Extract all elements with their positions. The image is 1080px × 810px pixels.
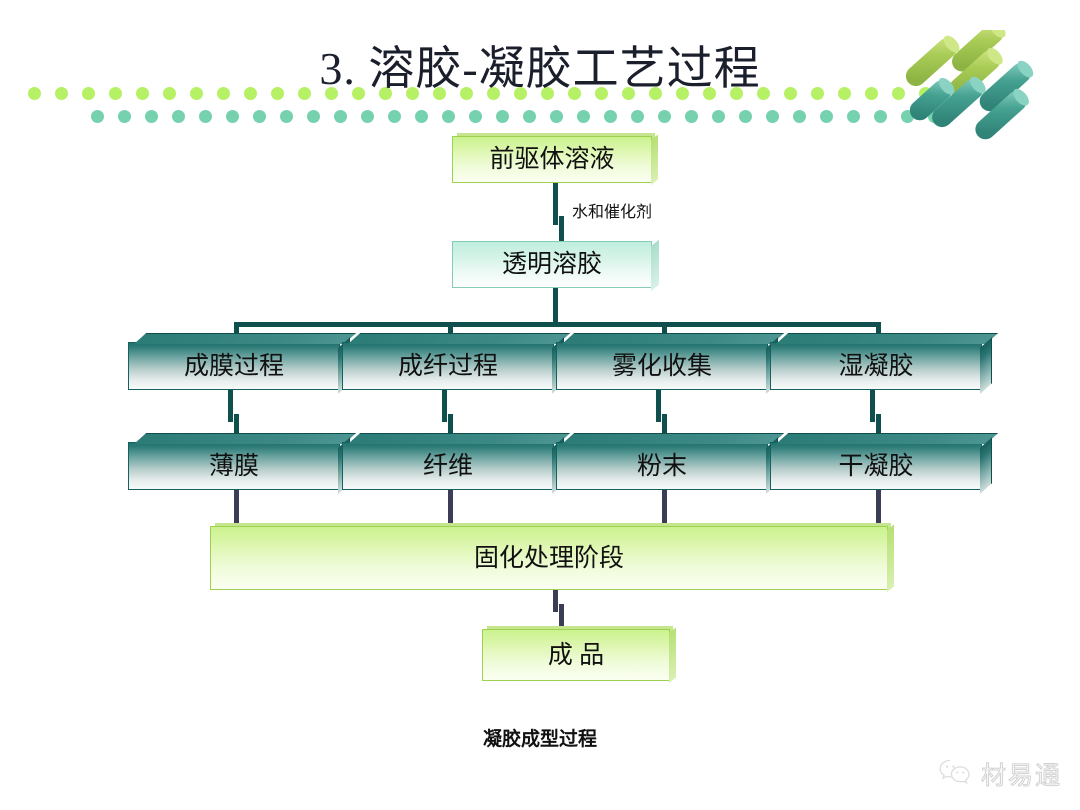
connector-powder-to-curing: [662, 490, 667, 526]
connector-fiber-to-curing: [448, 490, 453, 526]
flow-node-label: 干凝胶: [838, 454, 913, 479]
page-title: 3. 溶胶-凝胶工艺过程: [0, 32, 1080, 98]
decorative-dot: [685, 110, 698, 123]
connector-wetgel-to-drygel-a: [870, 390, 875, 422]
decorative-dot: [604, 110, 617, 123]
connector-fiberproc-to-fiber-a: [442, 390, 447, 422]
diagram-caption: 凝胶成型过程: [0, 724, 1080, 751]
decorative-dot: [469, 110, 482, 123]
decorative-dot: [658, 110, 671, 123]
wechat-icon: [938, 758, 972, 791]
decorative-dot: [307, 110, 320, 123]
decorative-dot: [280, 110, 293, 123]
flow-node-label: 雾化收集: [612, 354, 712, 379]
decorative-dot: [577, 110, 590, 123]
flow-node-label: 薄膜: [209, 454, 259, 479]
decorative-dot: [523, 110, 536, 123]
decorative-dot: [199, 110, 212, 123]
edge-label-hydrolysis: 水和催化剂: [572, 198, 652, 222]
flow-node-label: 前驱体溶液: [489, 147, 614, 172]
decorative-dot: [145, 110, 158, 123]
decorative-dot: [226, 110, 239, 123]
decorative-dot: [847, 110, 860, 123]
connector-film-to-thinfilm-a: [228, 390, 233, 422]
flow-node-fiber-process[interactable]: 成纤过程: [342, 342, 554, 390]
flow-node-curing-stage[interactable]: 固化处理阶段: [210, 526, 888, 590]
decorative-dot: [118, 110, 131, 123]
connector-precursor-to-clearsol-lower: [559, 216, 564, 242]
flow-node-dry-gel[interactable]: 干凝胶: [770, 442, 982, 490]
flow-node-fiber[interactable]: 纤维: [342, 442, 554, 490]
decorative-dot: [793, 110, 806, 123]
decorative-dot: [388, 110, 401, 123]
flow-node-label: 成 品: [548, 643, 604, 668]
connector-curing-to-product-a: [553, 590, 558, 612]
connector-precursor-to-clearsol-upper: [553, 183, 558, 225]
flow-node-label: 湿凝胶: [838, 354, 913, 379]
flow-node-clear-sol[interactable]: 透明溶胶: [452, 241, 652, 288]
decorative-dot: [91, 110, 104, 123]
decorative-dot: [496, 110, 509, 123]
decorative-dot: [712, 110, 725, 123]
flow-node-film-process[interactable]: 成膜过程: [128, 342, 340, 390]
decorative-dot: [253, 110, 266, 123]
connector-thinfilm-to-curing: [234, 490, 239, 526]
decorative-dot: [820, 110, 833, 123]
connector-drygel-to-curing: [876, 490, 881, 526]
decorative-dot: [631, 110, 644, 123]
flow-node-thin-film[interactable]: 薄膜: [128, 442, 340, 490]
flow-node-label: 透明溶胶: [502, 252, 602, 277]
flow-node-wet-gel[interactable]: 湿凝胶: [770, 342, 982, 390]
flow-node-label: 纤维: [423, 454, 473, 479]
flow-node-label: 粉末: [637, 454, 687, 479]
connector-clearsol-trunk: [553, 288, 558, 324]
decorative-dot: [415, 110, 428, 123]
decorative-dot: [172, 110, 185, 123]
decorative-dot: [874, 110, 887, 123]
flow-node-product[interactable]: 成 品: [482, 629, 670, 681]
connector-atomize-to-powder-a: [656, 390, 661, 422]
flow-node-powder[interactable]: 粉末: [556, 442, 768, 490]
flow-node-label: 成纤过程: [398, 354, 498, 379]
flow-node-atomization[interactable]: 雾化收集: [556, 342, 768, 390]
decorative-dot: [361, 110, 374, 123]
flow-node-precursor[interactable]: 前驱体溶液: [452, 136, 652, 183]
flow-node-label: 固化处理阶段: [474, 546, 624, 571]
connector-branch-bar: [234, 322, 881, 327]
decorative-dot: [739, 110, 752, 123]
decorative-dot: [550, 110, 563, 123]
decorative-dot: [442, 110, 455, 123]
decorative-dot-row-bottom: [91, 110, 955, 123]
watermark: 材易通: [938, 756, 1062, 792]
decorative-dot: [334, 110, 347, 123]
flow-node-label: 成膜过程: [184, 354, 284, 379]
decorative-dot: [766, 110, 779, 123]
watermark-text: 材易通: [981, 756, 1062, 792]
slide-canvas: 3. 溶胶-凝胶工艺过程: [0, 0, 1080, 810]
connector-curing-to-product-b: [559, 604, 564, 630]
